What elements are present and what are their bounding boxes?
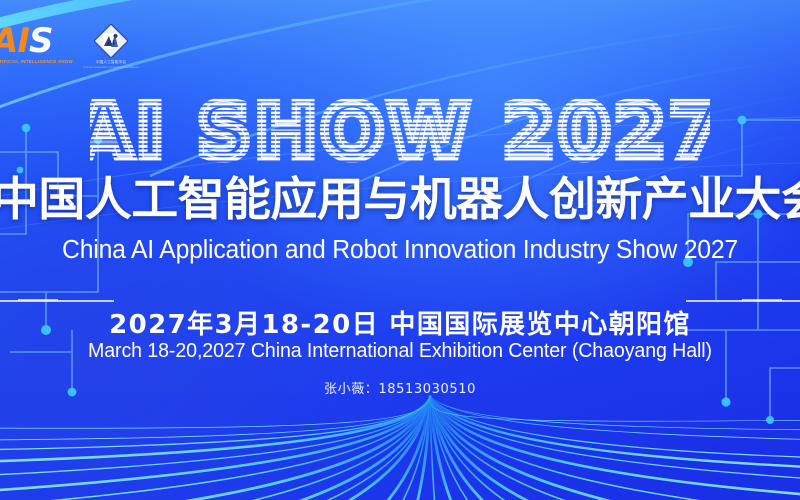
divider-left: [0, 300, 114, 302]
ais-ai-text: AI: [0, 21, 29, 61]
logo-bar: AIS ARTIFICIAL INTELLIGENCE SHOW AI 中国人工…: [0, 24, 138, 70]
date-venue-chinese: 2027年3月18-20日 中国国际展览中心朝阳馆: [0, 304, 800, 341]
subtitle-english: China AI Application and Robot Innovatio…: [12, 236, 788, 265]
cai-mark-text: AI: [107, 39, 115, 47]
ais-s-text: S: [29, 21, 53, 61]
date-venue-english: March 18-20,2027 China International Exh…: [8, 340, 792, 363]
cai-subtitle-en: Chinese Association for Artificial Intel…: [83, 66, 138, 69]
ais-logo[interactable]: AIS ARTIFICIAL INTELLIGENCE SHOW: [0, 24, 68, 68]
poster-canvas: AIS ARTIFICIAL INTELLIGENCE SHOW AI 中国人工…: [0, 0, 800, 500]
contact-info: 张小薇：18513030510: [0, 378, 800, 397]
cai-emblem-svg: AI: [94, 24, 128, 58]
ais-wordmark: AIS: [0, 24, 68, 58]
cai-subtitle-cn: 中国人工智能学会: [96, 60, 126, 65]
cai-diamond-emblem: AI: [94, 24, 128, 58]
main-title-outline: AI SHOW 2027: [90, 95, 710, 173]
cai-logo[interactable]: AI 中国人工智能学会 Chinese Association for Arti…: [84, 24, 138, 70]
headline-chinese: 中国人工智能应用与机器人创新产业大会: [0, 172, 800, 226]
main-title: AI SHOW 2027 AI SHOW 2027: [0, 95, 800, 173]
ais-tagline: ARTIFICIAL INTELLIGENCE SHOW: [0, 59, 68, 64]
main-title-svg: AI SHOW 2027 AI SHOW 2027: [90, 95, 710, 173]
divider-right: [686, 300, 800, 302]
